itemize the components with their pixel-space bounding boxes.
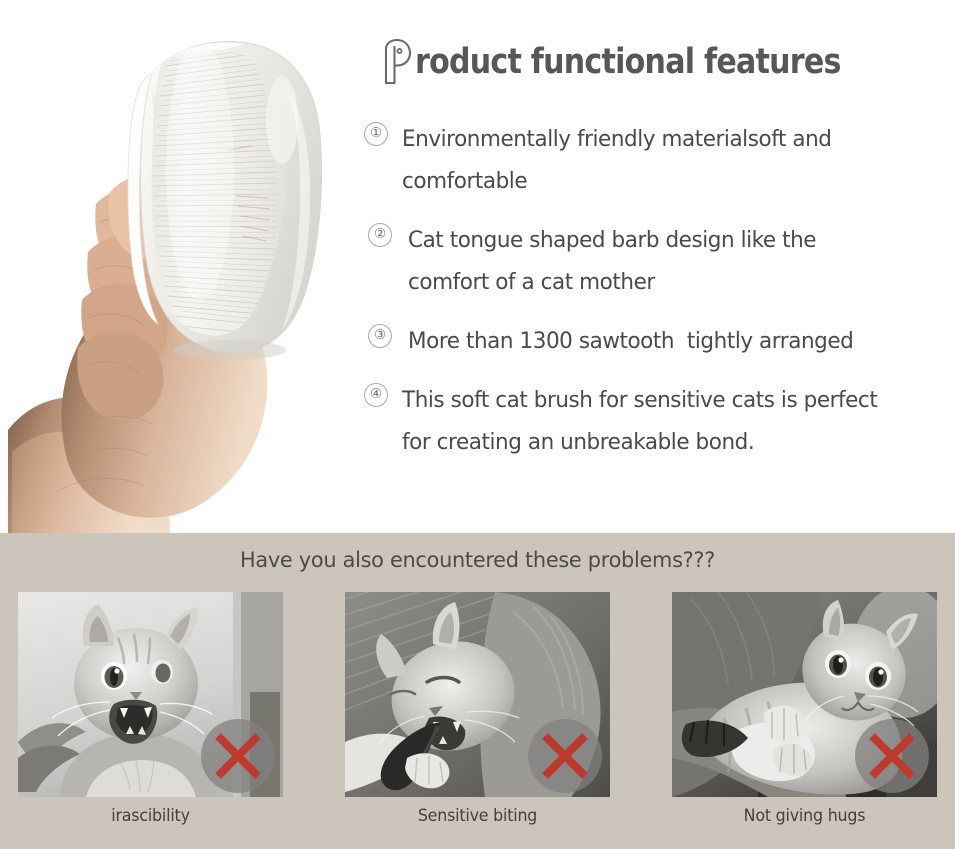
red-x-badge-1 — [201, 719, 275, 793]
feature-item-2: ② Cat tongue shaped barb design like the… — [364, 219, 924, 303]
feature-text-4: This soft cat brush for sensitive cats i… — [402, 379, 901, 463]
page-title-text: roduct functional features — [415, 45, 841, 80]
hand-holding-brush-photo — [0, 0, 360, 533]
page-title: roduct functional features — [380, 34, 910, 90]
feature-number-3: ③ — [368, 324, 392, 348]
feature-text-2: Cat tongue shaped barb design like the c… — [408, 219, 901, 303]
problem-caption-2: Sensitive biting — [350, 806, 604, 825]
feature-number-1: ① — [364, 122, 388, 146]
feature-text-1: Environmentally friendly materialsoft an… — [402, 118, 901, 202]
problem-photo-irascibility — [18, 592, 283, 797]
problem-caption-3: Not giving hugs — [677, 806, 931, 825]
problems-section: Have you also encountered these problems… — [0, 533, 955, 849]
problem-card-irascibility: irascibility — [18, 592, 283, 825]
outlined-p-initial-icon — [380, 37, 414, 87]
feature-text-3: More than 1300 sawtooth tightly arranged — [408, 320, 901, 362]
feature-number-2: ② — [368, 223, 392, 247]
feature-number-4: ④ — [364, 383, 388, 407]
red-x-icon — [201, 719, 275, 793]
feature-item-1: ① Environmentally friendly materialsoft … — [364, 118, 924, 202]
problem-card-not-giving-hugs: Not giving hugs — [672, 592, 937, 825]
product-feature-page: roduct functional features ① Environment… — [0, 0, 955, 849]
problem-card-sensitive-biting: Sensitive biting — [345, 592, 610, 825]
problem-card-list: irascibility — [18, 592, 937, 825]
features-section: roduct functional features ① Environment… — [0, 0, 955, 533]
problem-caption-1: irascibility — [23, 806, 277, 825]
problem-photo-not-giving-hugs — [672, 592, 937, 797]
red-x-badge-3 — [855, 719, 929, 793]
red-x-icon — [855, 719, 929, 793]
product-photo — [0, 0, 360, 533]
problem-photo-sensitive-biting — [345, 592, 610, 797]
red-x-badge-2 — [528, 719, 602, 793]
red-x-icon — [528, 719, 602, 793]
feature-list: ① Environmentally friendly materialsoft … — [364, 118, 924, 480]
feature-item-3: ③ More than 1300 sawtooth tightly arrang… — [364, 320, 924, 362]
problems-heading: Have you also encountered these problems… — [14, 548, 940, 573]
feature-item-4: ④ This soft cat brush for sensitive cats… — [364, 379, 924, 463]
